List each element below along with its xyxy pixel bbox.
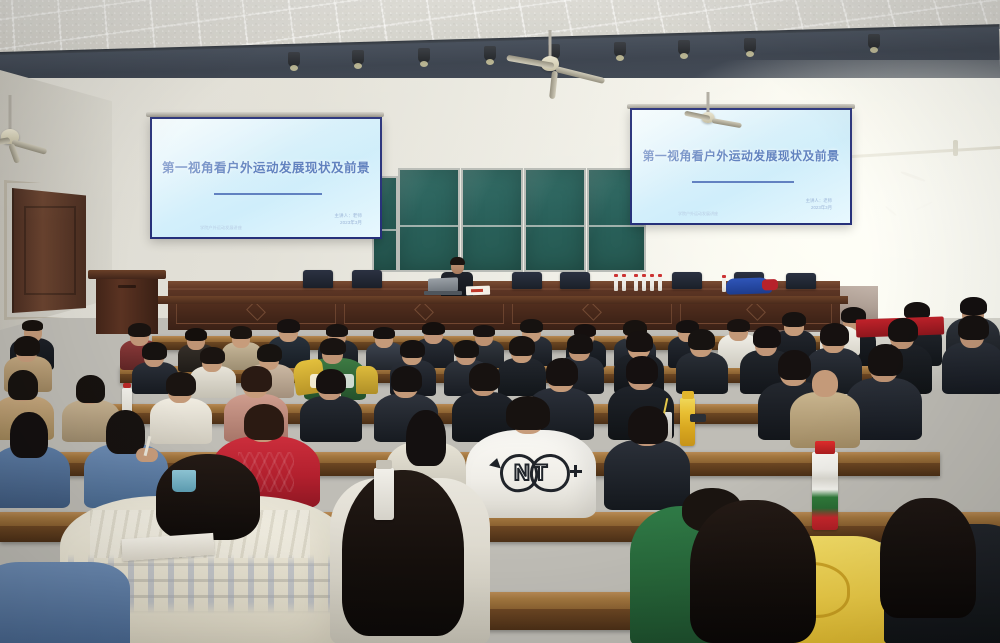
hoodie-graphic-plus-icon [574, 465, 577, 477]
stage-chair[interactable] [672, 272, 702, 289]
track-light-icon [288, 52, 300, 67]
blackboard-panel [398, 168, 460, 272]
left-door[interactable] [12, 188, 86, 313]
hair [156, 454, 260, 540]
drink-cup [172, 470, 196, 492]
slide-subtitle-line1: 主讲人：老师 [334, 213, 362, 219]
lecture-hall-photo: 第一视角看户外运动发展现状及前景 主讲人：老师 2023年3月 学院户外运动发展… [0, 0, 1000, 643]
track-light-icon [484, 46, 496, 61]
slide-divider-right [692, 181, 794, 183]
stage-chair[interactable] [786, 273, 816, 289]
presenter-papers [466, 286, 490, 296]
slide-divider [214, 193, 322, 195]
hair [880, 498, 976, 618]
stage-chair[interactable] [560, 272, 590, 289]
hair [690, 500, 816, 643]
stage-chair[interactable] [512, 272, 542, 289]
lectern-top [88, 270, 166, 279]
fan-blade [712, 118, 742, 128]
presenter-laptop-base [424, 291, 462, 295]
slide-subtitle-line1-right: 主讲人：老师 [806, 198, 832, 204]
stage-water-bottle [614, 277, 618, 291]
track-light-icon [418, 48, 430, 63]
blackboard-panel [524, 168, 586, 272]
water-bottle-kangshifu [812, 452, 838, 530]
stage-chair[interactable] [303, 270, 333, 288]
bottle-cap-icon [815, 441, 835, 454]
stage-chair[interactable] [352, 270, 382, 288]
blackboard [398, 168, 646, 272]
left-projection-screen: 第一视角看户外运动发展现状及前景 主讲人：老师 2023年3月 学院户外运动发展… [150, 117, 382, 239]
ceiling-fan-right [690, 92, 760, 142]
lectern-slot [118, 285, 136, 288]
blue-jacket-on-table [726, 277, 773, 295]
blackboard-panel [461, 168, 523, 272]
fan-blade [549, 71, 558, 99]
phone[interactable] [690, 414, 706, 422]
stage-water-bottle [650, 277, 654, 291]
hoodie-graphic-label: NT [514, 460, 551, 486]
ceiling-fan-left [0, 95, 40, 165]
slide-subtitle-line2-right: 2023年3月 [811, 205, 832, 211]
varsity-yellow-trim [356, 366, 378, 394]
bottle-cap-icon [123, 383, 131, 388]
bottle-cap-icon [682, 391, 694, 399]
track-light-icon [868, 34, 880, 49]
slide-footer-right: 学院户外运动发展讲座 [678, 211, 718, 217]
stage-water-bottle [622, 277, 626, 291]
orange-juice-bottle [680, 398, 695, 446]
bottle-cap-icon [376, 460, 392, 469]
track-light-icon [744, 38, 756, 53]
slide-title-right: 第一视角看户外运动发展现状及前景 [632, 147, 850, 164]
track-light-icon [678, 40, 690, 55]
fan-blade [555, 66, 605, 84]
presenter-hair [450, 257, 465, 265]
hair [342, 470, 464, 636]
stage-water-bottle [658, 277, 662, 291]
ceiling-fan-center [510, 30, 620, 100]
thermos-bottle [374, 468, 394, 520]
wall-hook-icon [953, 140, 958, 156]
stage-water-bottle [634, 277, 638, 291]
track-light-icon [352, 50, 364, 65]
slide-footer: 学院户外运动发展讲座 [200, 225, 242, 231]
slide-title: 第一视角看户外运动发展现状及前景 [152, 157, 380, 176]
stage-water-bottle [642, 277, 646, 291]
slide-subtitle-line2: 2023年3月 [340, 220, 362, 226]
stage-rail [158, 296, 848, 304]
